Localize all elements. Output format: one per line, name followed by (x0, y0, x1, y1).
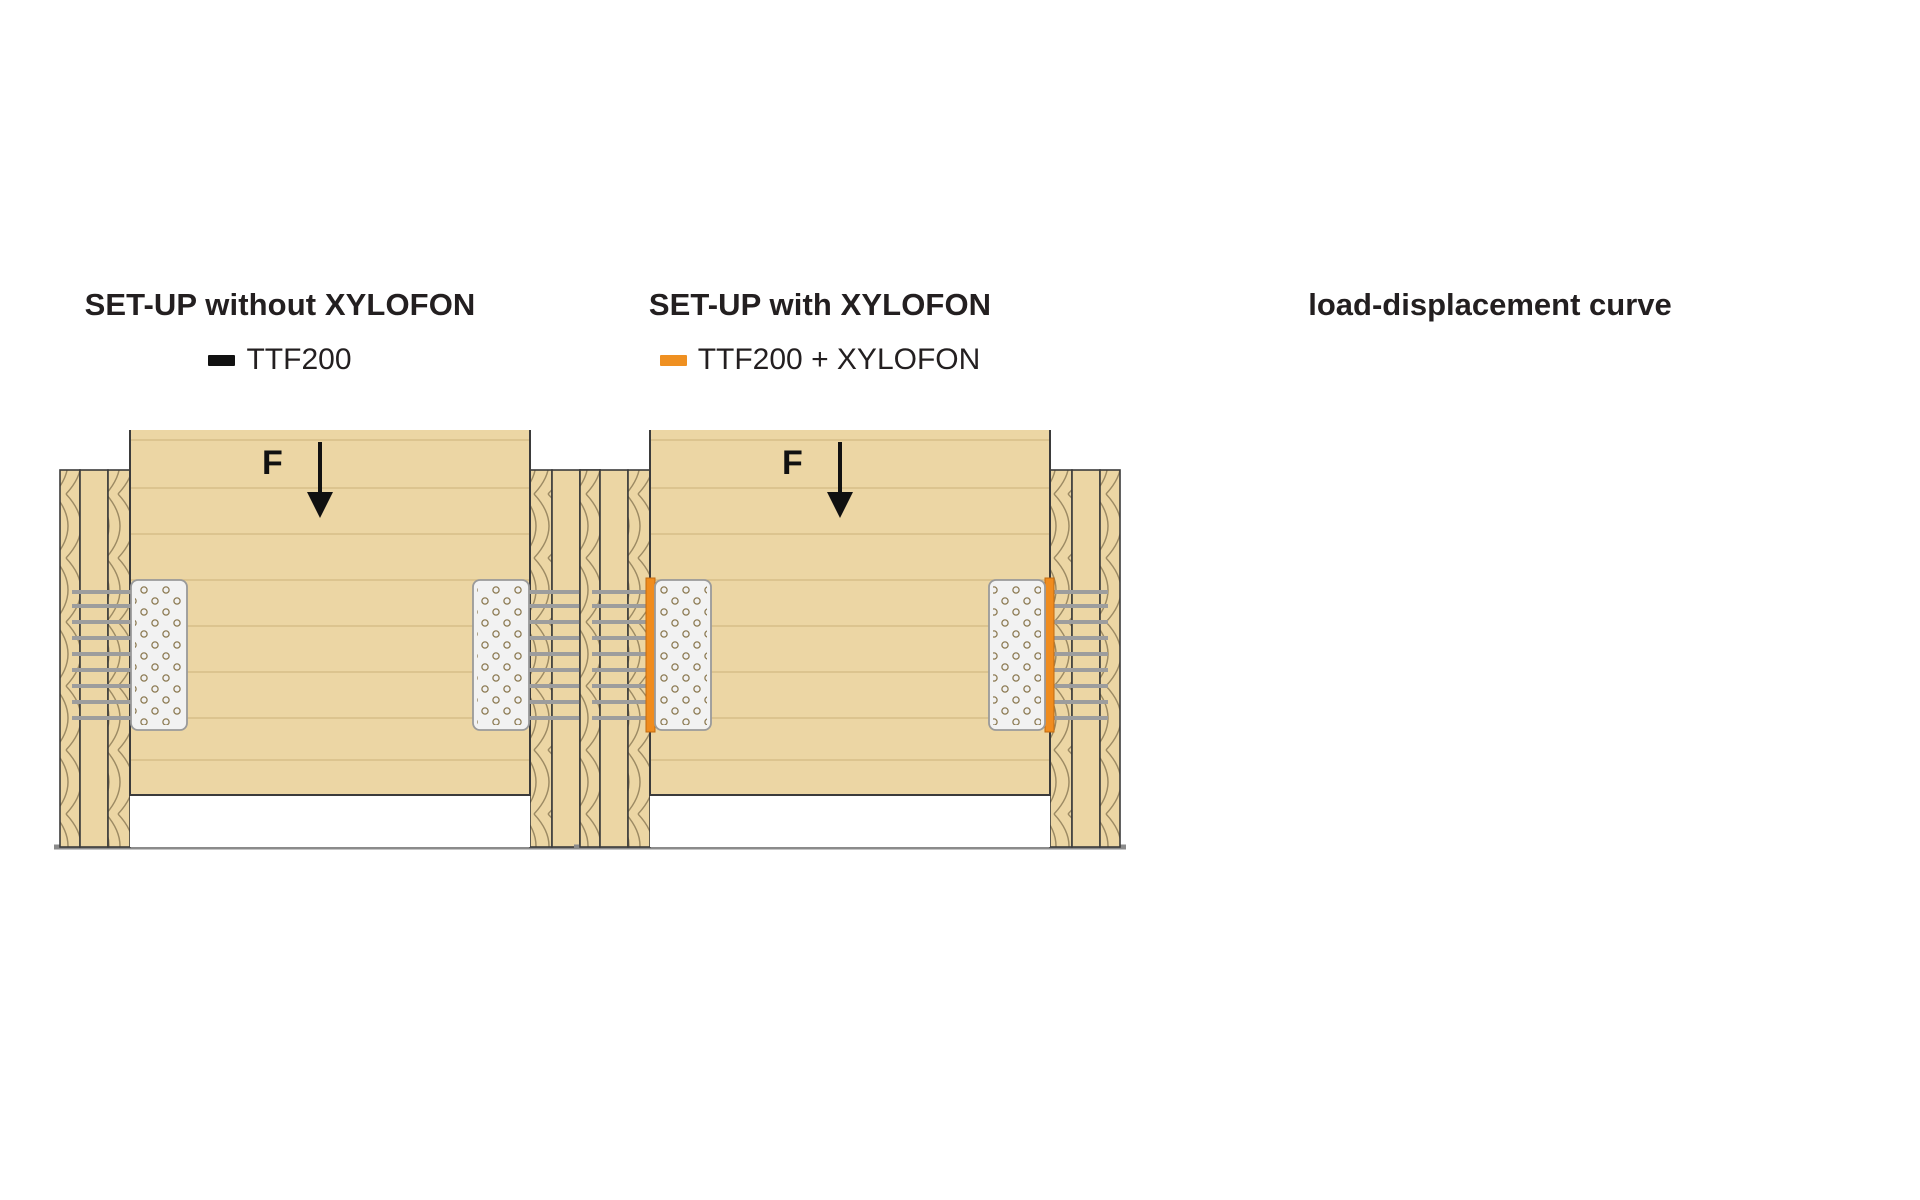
connector-plate-left (655, 580, 711, 730)
legend-label-ttf200: TTF200 (246, 343, 351, 377)
wood-post-left (580, 470, 650, 847)
force-label-without-xylofon: F (262, 444, 283, 483)
connector-plate-left (131, 580, 187, 730)
setup-panel-without-xylofon: SET-UP without XYLOFON TTF200 (0, 0, 560, 1000)
legend-label-ttf200-xylofon: TTF200 + XYLOFON (698, 343, 981, 377)
chart-title: load-displacement curve (1100, 287, 1880, 323)
legend-swatch-ttf200 (208, 355, 235, 366)
connector-plate-right (473, 580, 529, 730)
xylofon-layer-left (646, 578, 655, 732)
legend-swatch-ttf200-xylofon (660, 355, 687, 366)
legend-with-xylofon: TTF200 + XYLOFON (540, 343, 1100, 377)
setup-title-with-xylofon: SET-UP with XYLOFON (540, 287, 1100, 323)
setup-title-without-xylofon: SET-UP without XYLOFON (0, 287, 560, 323)
xylofon-layer-right (1045, 578, 1054, 732)
wood-post-left (60, 470, 130, 847)
connector-plate-right (989, 580, 1045, 730)
setup-panel-with-xylofon: SET-UP with XYLOFON TTF200 + XYLOFON (540, 0, 1100, 1000)
chart-panel: load-displacement curve load [kN] 350 30… (1100, 0, 1920, 1000)
force-label-with-xylofon: F (782, 444, 803, 483)
legend-without-xylofon: TTF200 (0, 343, 560, 377)
